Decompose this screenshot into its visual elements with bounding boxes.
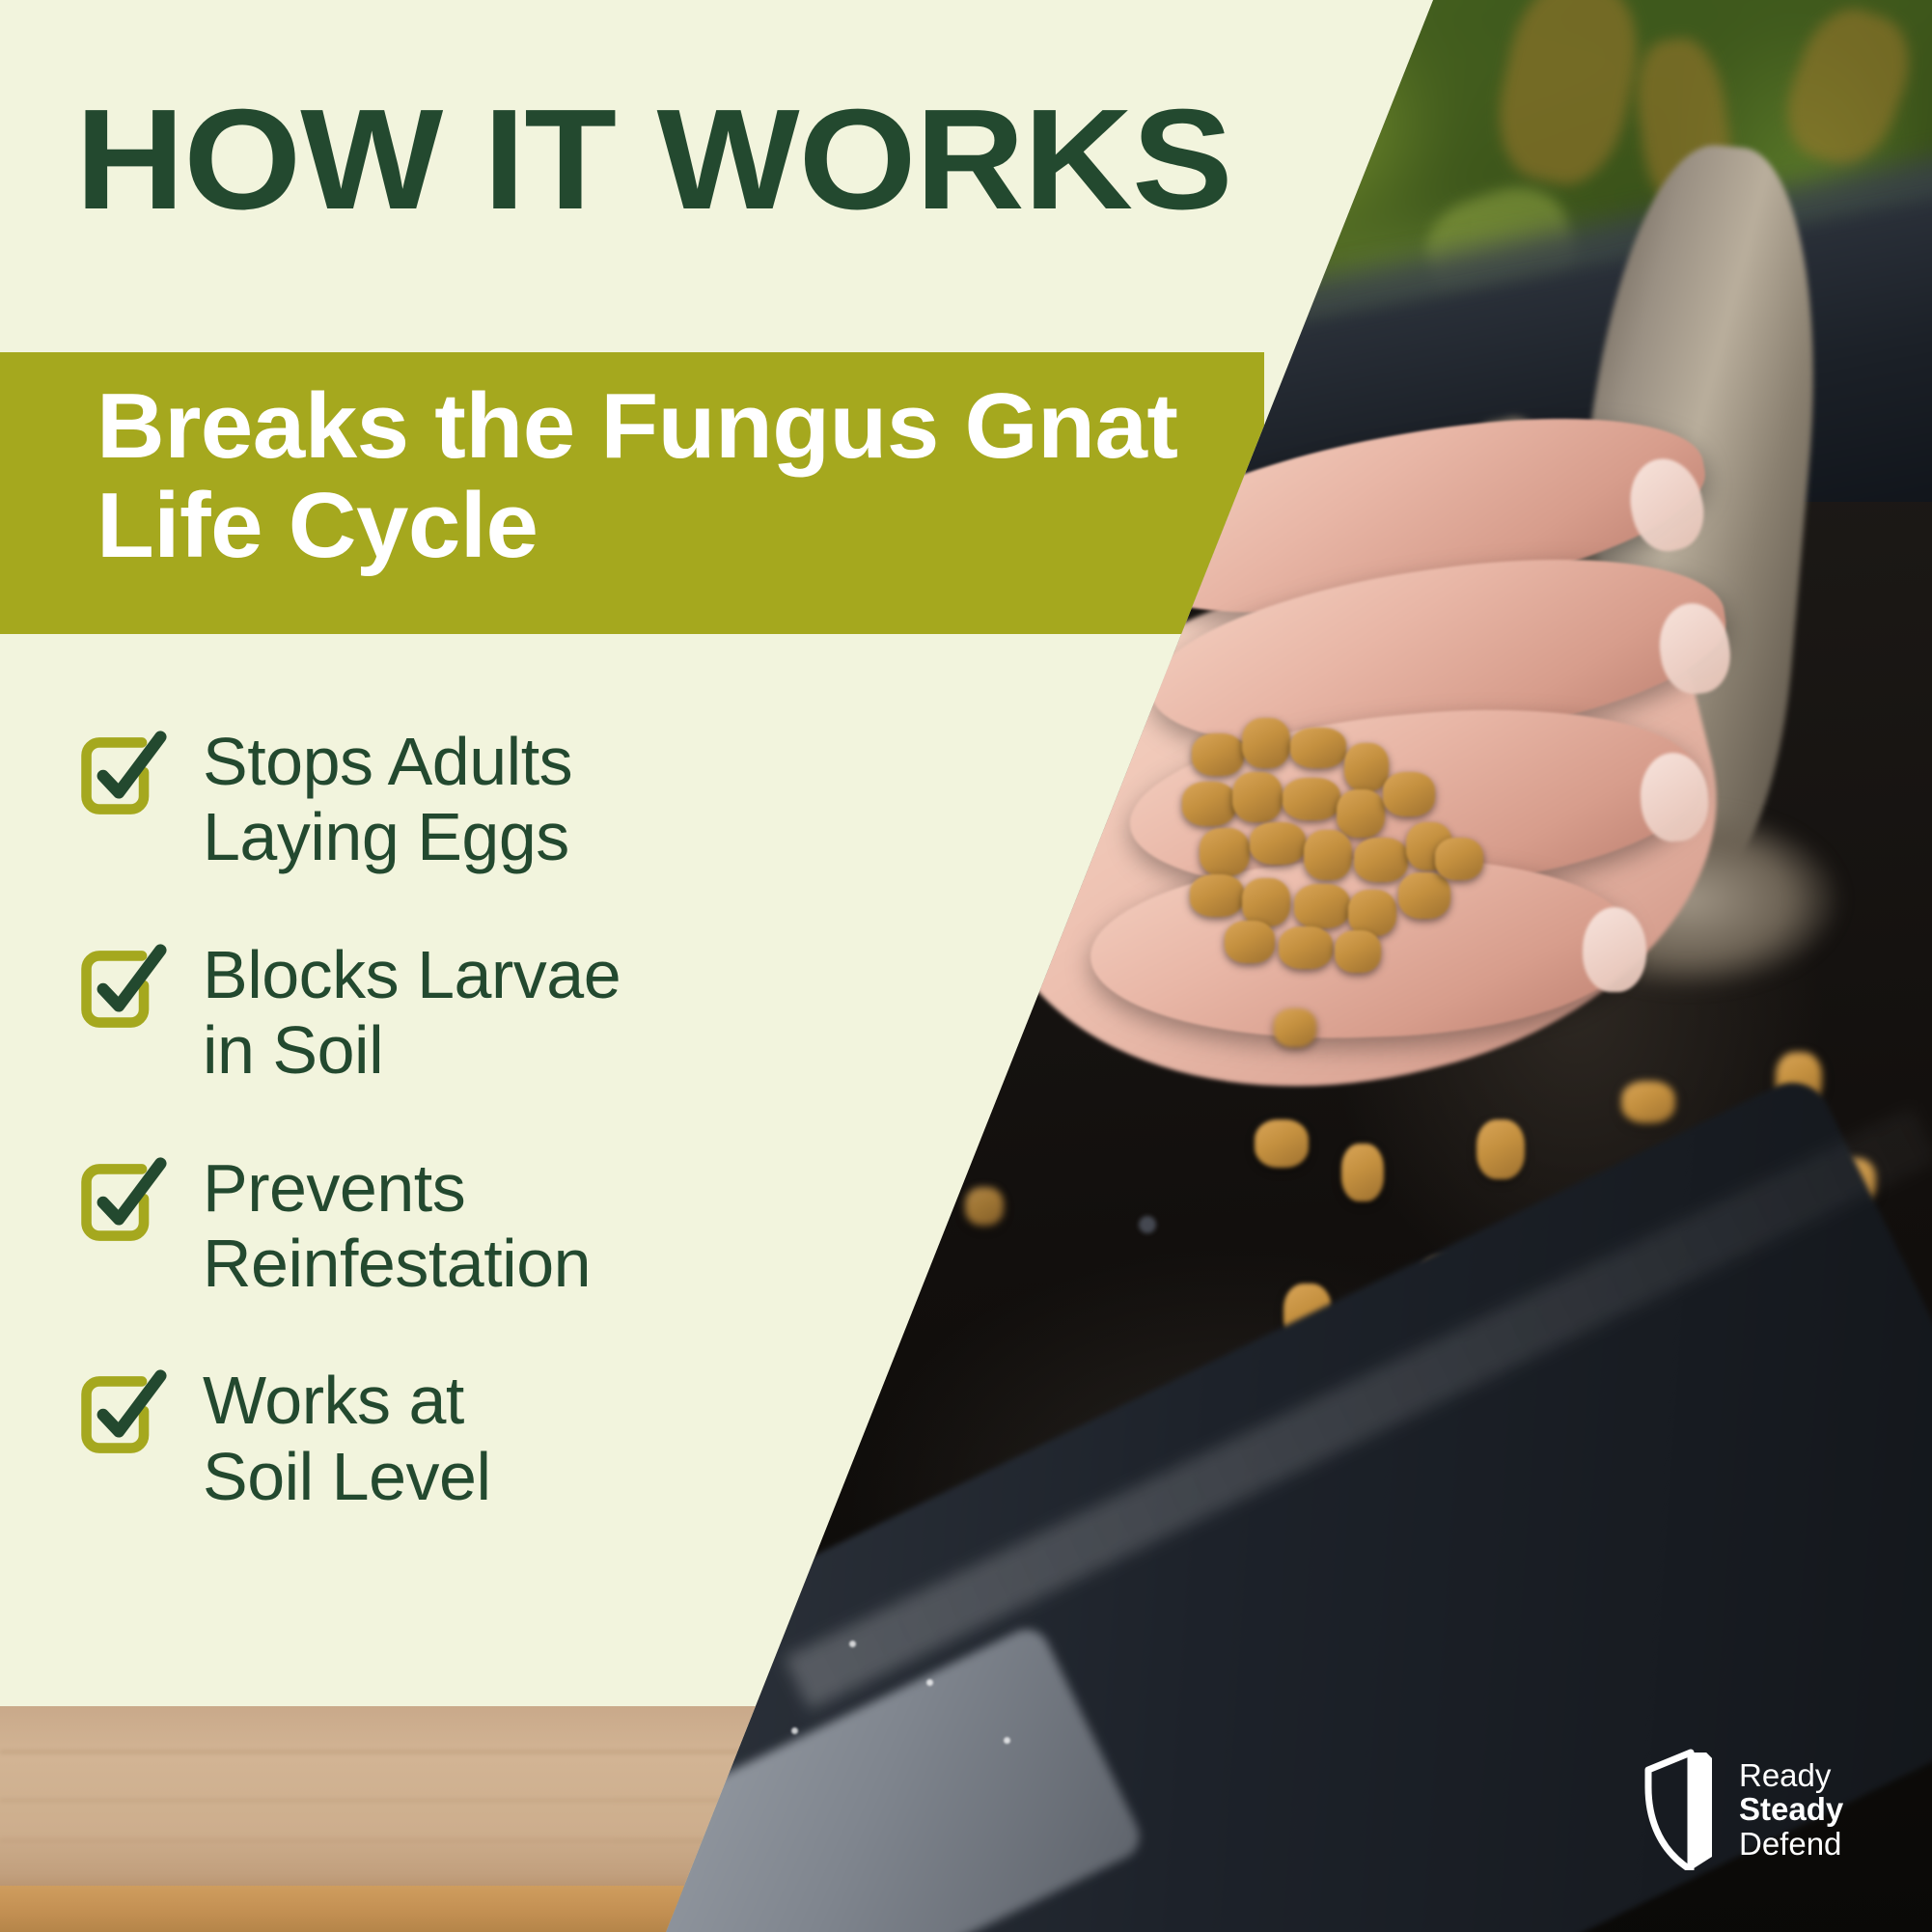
- logo-line-ready: Ready: [1739, 1758, 1843, 1793]
- brand-logo: Ready Steady Defend: [1641, 1737, 1899, 1882]
- page-title: HOW IT WORKS: [75, 89, 1232, 232]
- brand-logo-text: Ready Steady Defend: [1739, 1758, 1843, 1862]
- checkbox-check-icon: [75, 730, 168, 822]
- list-item: Blocks Larvae in Soil: [75, 935, 867, 1089]
- list-item: Stops Adults Laying Eggs: [75, 722, 867, 875]
- list-item: Works at Soil Level: [75, 1361, 867, 1514]
- checkbox-check-icon: [75, 1156, 168, 1249]
- pellet-heap: [1182, 714, 1501, 965]
- list-item-label: Blocks Larvae in Soil: [203, 935, 621, 1089]
- logo-line-steady: Steady: [1739, 1792, 1843, 1827]
- benefits-list: Stops Adults Laying Eggs Blocks Larvae i…: [75, 722, 867, 1514]
- poster-root: HOW IT WORKS Breaks the Fungus Gnat Life…: [0, 0, 1932, 1932]
- shield-icon: [1641, 1749, 1724, 1870]
- list-item-label: Prevents Reinfestation: [203, 1148, 591, 1302]
- headline-banner: Breaks the Fungus Gnat Life Cycle: [0, 352, 1264, 634]
- checkbox-check-icon: [75, 1368, 168, 1461]
- list-item-label: Stops Adults Laying Eggs: [203, 722, 572, 875]
- logo-line-defend: Defend: [1739, 1827, 1843, 1862]
- headline-text: Breaks the Fungus Gnat Life Cycle: [97, 377, 1238, 575]
- list-item: Prevents Reinfestation: [75, 1148, 867, 1302]
- list-item-label: Works at Soil Level: [203, 1361, 491, 1514]
- checkbox-check-icon: [75, 943, 168, 1035]
